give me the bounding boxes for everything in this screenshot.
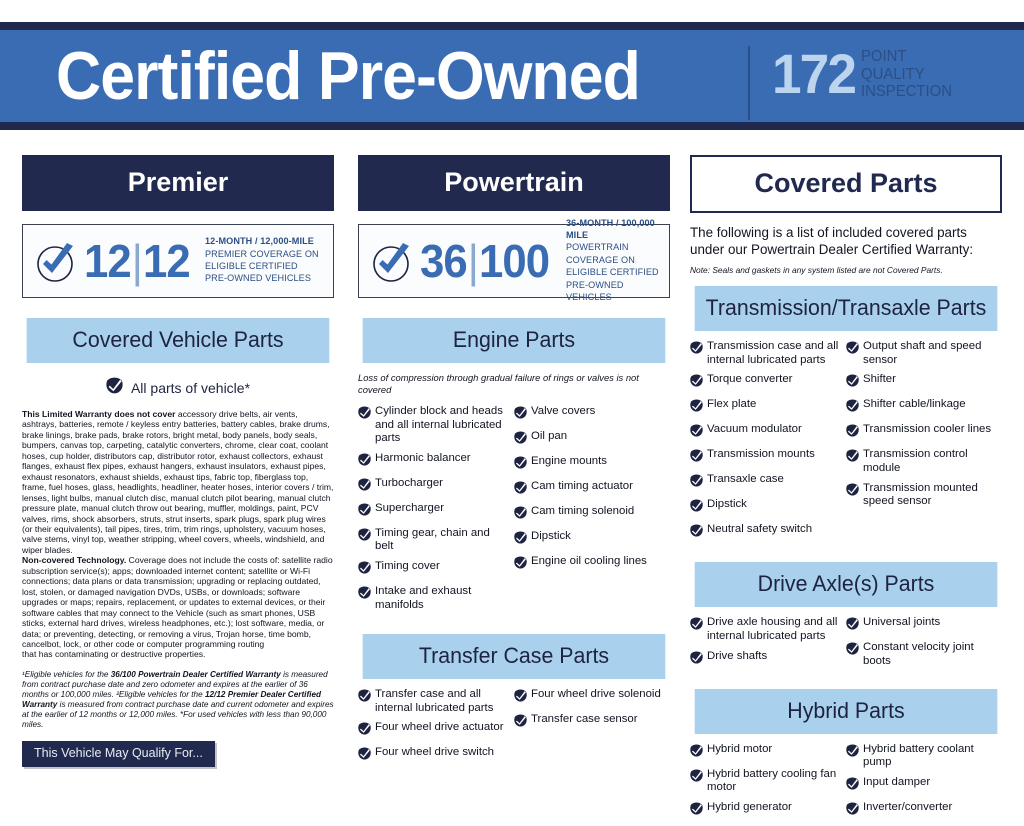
all-parts-of-vehicle-label: All parts of vehicle* <box>131 380 250 396</box>
exclusions-lead: This Limited Warranty does not cover <box>22 409 175 419</box>
list-item-label: Engine mounts <box>531 455 607 469</box>
list-item: Timing cover <box>358 560 508 579</box>
list-item-label: Transmission control module <box>863 448 996 475</box>
list-item: Shifter <box>846 373 996 392</box>
premier-coverage-line1: 12-MONTH / 12,000-MILE <box>205 236 319 248</box>
list-item-label: Transmission mounts <box>707 448 815 462</box>
check-badge-icon <box>690 424 703 442</box>
check-badge-icon <box>846 617 859 635</box>
check-badge-icon <box>690 617 703 635</box>
list-item-label: Oil pan <box>531 430 567 444</box>
list-item-label: Cam timing actuator <box>531 480 633 494</box>
check-badge-icon <box>846 483 859 501</box>
powertrain-coverage-badge: 36|100 36-MONTH / 100,000 MILE POWERTRAI… <box>358 224 670 298</box>
check-badge-icon <box>846 374 859 392</box>
list-item-label: Hybrid generator <box>707 801 792 815</box>
list-item: Engine oil cooling lines <box>514 555 664 574</box>
footnote-warranty-36100: 36/100 Powertrain Dealer Certified Warra… <box>111 670 281 679</box>
check-badge-icon <box>690 744 703 762</box>
check-badge-icon <box>514 406 527 424</box>
powertrain-coverage-line4: PRE-OWNED VEHICLES <box>566 280 664 305</box>
list-item: Hybrid motor <box>690 743 840 762</box>
check-badge-icon <box>514 689 527 707</box>
list-item-label: Harmonic balancer <box>375 452 471 466</box>
premier-separator: | <box>131 235 143 287</box>
engine-parts-heading: Engine Parts <box>363 318 666 363</box>
check-badge-icon <box>358 747 371 765</box>
premier-heading: Premier <box>22 155 334 211</box>
list-item-label: Inverter/converter <box>863 801 952 815</box>
covered-vehicle-parts-heading: Covered Vehicle Parts <box>27 318 330 363</box>
premier-coverage-text: 12-MONTH / 12,000-MILE PREMIER COVERAGE … <box>205 236 319 286</box>
check-badge-icon <box>846 399 859 417</box>
footnote-part-1: ¹Eligible vehicles for the <box>22 670 111 679</box>
list-item-label: Dipstick <box>707 498 747 512</box>
list-item: Transmission cooler lines <box>846 423 996 442</box>
footnote-part-3: is measured from contract purchase date … <box>22 700 334 729</box>
list-item: Cam timing solenoid <box>514 505 664 524</box>
check-badge-icon <box>514 456 527 474</box>
transfer-case-parts-list: Transfer case and all internal lubricate… <box>358 688 670 771</box>
list-item: Cam timing actuator <box>514 480 664 499</box>
powertrain-heading: Powertrain <box>358 155 670 211</box>
premier-coverage-line3: ELIGIBLE CERTIFIED <box>205 261 319 273</box>
transfer-case-list-right: Four wheel drive solenoidTransfer case s… <box>514 688 670 771</box>
list-item-label: Turbocharger <box>375 477 443 491</box>
list-item: Hybrid battery coolant pump <box>846 743 996 770</box>
check-badge-icon <box>690 341 703 359</box>
list-item-label: Transmission cooler lines <box>863 423 991 437</box>
list-item: Drive axle housing and all internal lubr… <box>690 616 840 643</box>
list-item-label: Four wheel drive solenoid <box>531 688 661 702</box>
powertrain-coverage-line2: POWERTRAIN COVERAGE ON <box>566 242 664 267</box>
list-item-label: Supercharger <box>375 502 444 516</box>
powertrain-miles: 100 <box>479 235 549 287</box>
inspection-badge: 172 POINT QUALITY INSPECTION <box>772 46 959 102</box>
premier-column: Premier 12|12 12-MONTH / 12,000-MILE PRE… <box>22 155 334 767</box>
list-item: Hybrid generator <box>690 801 840 820</box>
check-badge-icon <box>690 399 703 417</box>
list-item: Supercharger <box>358 502 508 521</box>
check-badge-icon <box>690 524 703 542</box>
check-badge-icon <box>846 341 859 359</box>
list-item-label: Valve covers <box>531 405 595 419</box>
inspection-point-count: 172 <box>772 46 855 102</box>
hybrid-list-left: Hybrid motorHybrid battery cooling fan m… <box>690 743 846 826</box>
transmission-parts-list: Transmission case and all internal lubri… <box>690 340 1002 548</box>
checkmark-circle-icon <box>33 238 80 285</box>
check-badge-icon <box>514 714 527 732</box>
warranty-footnote: ¹Eligible vehicles for the 36/100 Powert… <box>22 670 334 731</box>
check-badge-icon <box>846 802 859 820</box>
list-item: Dipstick <box>514 530 664 549</box>
list-item-label: Drive shafts <box>707 650 767 664</box>
list-item: Four wheel drive actuator <box>358 721 508 740</box>
list-item-label: Transfer case sensor <box>531 713 638 727</box>
check-badge-icon <box>106 377 123 399</box>
hybrid-list-right: Hybrid battery coolant pumpInput damperI… <box>846 743 1002 826</box>
inspection-label: POINT QUALITY INSPECTION <box>861 48 952 101</box>
check-badge-icon <box>358 503 371 521</box>
check-badge-icon <box>358 453 371 471</box>
all-parts-of-vehicle-row: All parts of vehicle* <box>22 377 334 399</box>
premier-term-numbers: 12|12 <box>84 238 190 284</box>
list-item-label: Torque converter <box>707 373 792 387</box>
list-item: Transmission control module <box>846 448 996 475</box>
check-badge-icon <box>514 556 527 574</box>
list-item: Constant velocity joint boots <box>846 641 996 668</box>
list-item-label: Output shaft and speed sensor <box>863 340 996 367</box>
check-badge-icon <box>358 406 371 424</box>
exclusions-body: accessory drive belts, air vents, ashtra… <box>22 409 333 555</box>
check-badge-icon <box>358 561 371 579</box>
check-badge-icon <box>690 802 703 820</box>
list-item-label: Flex plate <box>707 398 756 412</box>
list-item: Flex plate <box>690 398 840 417</box>
this-vehicle-may-qualify-button[interactable]: This Vehicle May Qualify For... <box>22 741 215 767</box>
drive-axle-list-right: Universal jointsConstant velocity joint … <box>846 616 1002 674</box>
drive-axle-list-left: Drive axle housing and all internal lubr… <box>690 616 846 674</box>
list-item: Input damper <box>846 776 996 795</box>
list-item-label: Constant velocity joint boots <box>863 641 996 668</box>
list-item-label: Cam timing solenoid <box>531 505 634 519</box>
list-item: Transfer case and all internal lubricate… <box>358 688 508 715</box>
list-item-label: Dipstick <box>531 530 571 544</box>
check-badge-icon <box>846 642 859 660</box>
covered-parts-note: Note: Seals and gaskets in any system li… <box>690 265 1002 276</box>
check-badge-icon <box>514 431 527 449</box>
powertrain-coverage-text: 36-MONTH / 100,000 MILE POWERTRAIN COVER… <box>566 218 664 305</box>
powertrain-months: 36 <box>420 235 467 287</box>
header-divider <box>748 46 750 120</box>
transfer-case-list-left: Transfer case and all internal lubricate… <box>358 688 514 771</box>
list-item: Neutral safety switch <box>690 523 840 542</box>
list-item-label: Engine oil cooling lines <box>531 555 647 569</box>
list-item-label: Neutral safety switch <box>707 523 812 537</box>
list-item-label: Hybrid motor <box>707 743 772 757</box>
engine-parts-note: Loss of compression through gradual fail… <box>358 372 670 396</box>
inspection-label-line2: QUALITY <box>861 66 952 84</box>
engine-parts-list-left: Cylinder block and heads and all interna… <box>358 405 514 618</box>
check-badge-icon <box>514 506 527 524</box>
check-badge-icon <box>846 744 859 762</box>
page-header-banner: Certified Pre-Owned 172 POINT QUALITY IN… <box>0 22 1024 130</box>
list-item: Intake and exhaust manifolds <box>358 585 508 612</box>
covered-parts-heading: Covered Parts <box>690 155 1002 213</box>
list-item-label: Hybrid battery coolant pump <box>863 743 996 770</box>
list-item-label: Intake and exhaust manifolds <box>375 585 508 612</box>
check-badge-icon <box>514 531 527 549</box>
list-item-label: Transaxle case <box>707 473 784 487</box>
list-item: Timing gear, chain and belt <box>358 527 508 554</box>
drive-axle-parts-list: Drive axle housing and all internal lubr… <box>690 616 1002 674</box>
exclusions-fine-print: This Limited Warranty does not cover acc… <box>22 409 334 660</box>
list-item: Shifter cable/linkage <box>846 398 996 417</box>
covered-parts-column: Covered Parts The following is a list of… <box>690 155 1002 826</box>
list-item-label: Cylinder block and heads and all interna… <box>375 405 508 446</box>
hybrid-parts-list: Hybrid motorHybrid battery cooling fan m… <box>690 743 1002 826</box>
list-item-label: Transmission case and all internal lubri… <box>707 340 840 367</box>
inspection-label-line3: INSPECTION <box>861 83 952 101</box>
list-item-label: Shifter <box>863 373 896 387</box>
list-item-label: Drive axle housing and all internal lubr… <box>707 616 840 643</box>
powertrain-separator: | <box>467 235 479 287</box>
powertrain-term-numbers: 36|100 <box>420 238 549 284</box>
check-badge-icon <box>358 528 371 546</box>
check-badge-icon <box>846 449 859 467</box>
check-badge-icon <box>690 651 703 669</box>
checkmark-circle-icon <box>369 238 416 285</box>
premier-coverage-line4: PRE-OWNED VEHICLES <box>205 273 319 285</box>
list-item: Four wheel drive solenoid <box>514 688 664 707</box>
check-badge-icon <box>846 777 859 795</box>
list-item-label: Transmission mounted speed sensor <box>863 482 996 509</box>
tech-body-tail: that has contaminating or destructive pr… <box>22 649 205 659</box>
list-item: Oil pan <box>514 430 664 449</box>
list-item: Transaxle case <box>690 473 840 492</box>
check-badge-icon <box>358 586 371 604</box>
list-item: Inverter/converter <box>846 801 996 820</box>
list-item: Valve covers <box>514 405 664 424</box>
premier-coverage-line2: PREMIER COVERAGE ON <box>205 249 319 261</box>
list-item-label: Transfer case and all internal lubricate… <box>375 688 508 715</box>
premier-months: 12 <box>84 235 131 287</box>
check-badge-icon <box>514 481 527 499</box>
list-item-label: Timing cover <box>375 560 440 574</box>
drive-axle-parts-heading: Drive Axle(s) Parts <box>695 562 998 607</box>
inspection-label-line1: POINT <box>861 48 952 66</box>
transmission-transaxle-parts-heading: Transmission/Transaxle Parts <box>695 286 998 331</box>
list-item-label: Input damper <box>863 776 930 790</box>
tech-body: Coverage does not include the costs of: … <box>22 555 333 649</box>
engine-parts-list: Cylinder block and heads and all interna… <box>358 405 670 618</box>
check-badge-icon <box>690 449 703 467</box>
list-item: Universal joints <box>846 616 996 635</box>
covered-parts-intro: The following is a list of included cove… <box>690 225 1002 258</box>
check-badge-icon <box>690 769 703 787</box>
list-item: Four wheel drive switch <box>358 746 508 765</box>
list-item: Torque converter <box>690 373 840 392</box>
engine-parts-list-right: Valve coversOil panEngine mountsCam timi… <box>514 405 670 618</box>
list-item: Turbocharger <box>358 477 508 496</box>
list-item: Transmission case and all internal lubri… <box>690 340 840 367</box>
check-badge-icon <box>846 424 859 442</box>
certified-pre-owned-page: Certified Pre-Owned 172 POINT QUALITY IN… <box>0 0 1024 791</box>
powertrain-column: Powertrain 36|100 36-MONTH / 100,000 MIL… <box>358 155 670 771</box>
list-item-label: Vacuum modulator <box>707 423 802 437</box>
hybrid-parts-heading: Hybrid Parts <box>695 689 998 734</box>
list-item: Cylinder block and heads and all interna… <box>358 405 508 446</box>
premier-coverage-badge: 12|12 12-MONTH / 12,000-MILE PREMIER COV… <box>22 224 334 298</box>
list-item: Transfer case sensor <box>514 713 664 732</box>
list-item-label: Four wheel drive actuator <box>375 721 504 735</box>
list-item-label: Shifter cable/linkage <box>863 398 966 412</box>
list-item-label: Universal joints <box>863 616 940 630</box>
list-item: Transmission mounts <box>690 448 840 467</box>
check-badge-icon <box>690 474 703 492</box>
page-title: Certified Pre-Owned <box>56 41 640 111</box>
list-item: Harmonic balancer <box>358 452 508 471</box>
check-badge-icon <box>358 722 371 740</box>
list-item-label: Four wheel drive switch <box>375 746 494 760</box>
transmission-list-left: Transmission case and all internal lubri… <box>690 340 846 548</box>
premier-miles: 12 <box>143 235 190 287</box>
list-item: Vacuum modulator <box>690 423 840 442</box>
powertrain-coverage-line3: ELIGIBLE CERTIFIED <box>566 267 664 279</box>
transfer-case-parts-heading: Transfer Case Parts <box>363 634 666 679</box>
list-item: Drive shafts <box>690 650 840 669</box>
list-item: Transmission mounted speed sensor <box>846 482 996 509</box>
check-badge-icon <box>358 478 371 496</box>
check-badge-icon <box>690 374 703 392</box>
list-item: Engine mounts <box>514 455 664 474</box>
list-item-label: Timing gear, chain and belt <box>375 527 508 554</box>
transmission-list-right: Output shaft and speed sensorShifterShif… <box>846 340 1002 548</box>
check-badge-icon <box>358 689 371 707</box>
powertrain-coverage-line1: 36-MONTH / 100,000 MILE <box>566 218 664 243</box>
list-item: Dipstick <box>690 498 840 517</box>
tech-lead: Non-covered Technology. <box>22 555 126 565</box>
list-item: Output shaft and speed sensor <box>846 340 996 367</box>
check-badge-icon <box>690 499 703 517</box>
